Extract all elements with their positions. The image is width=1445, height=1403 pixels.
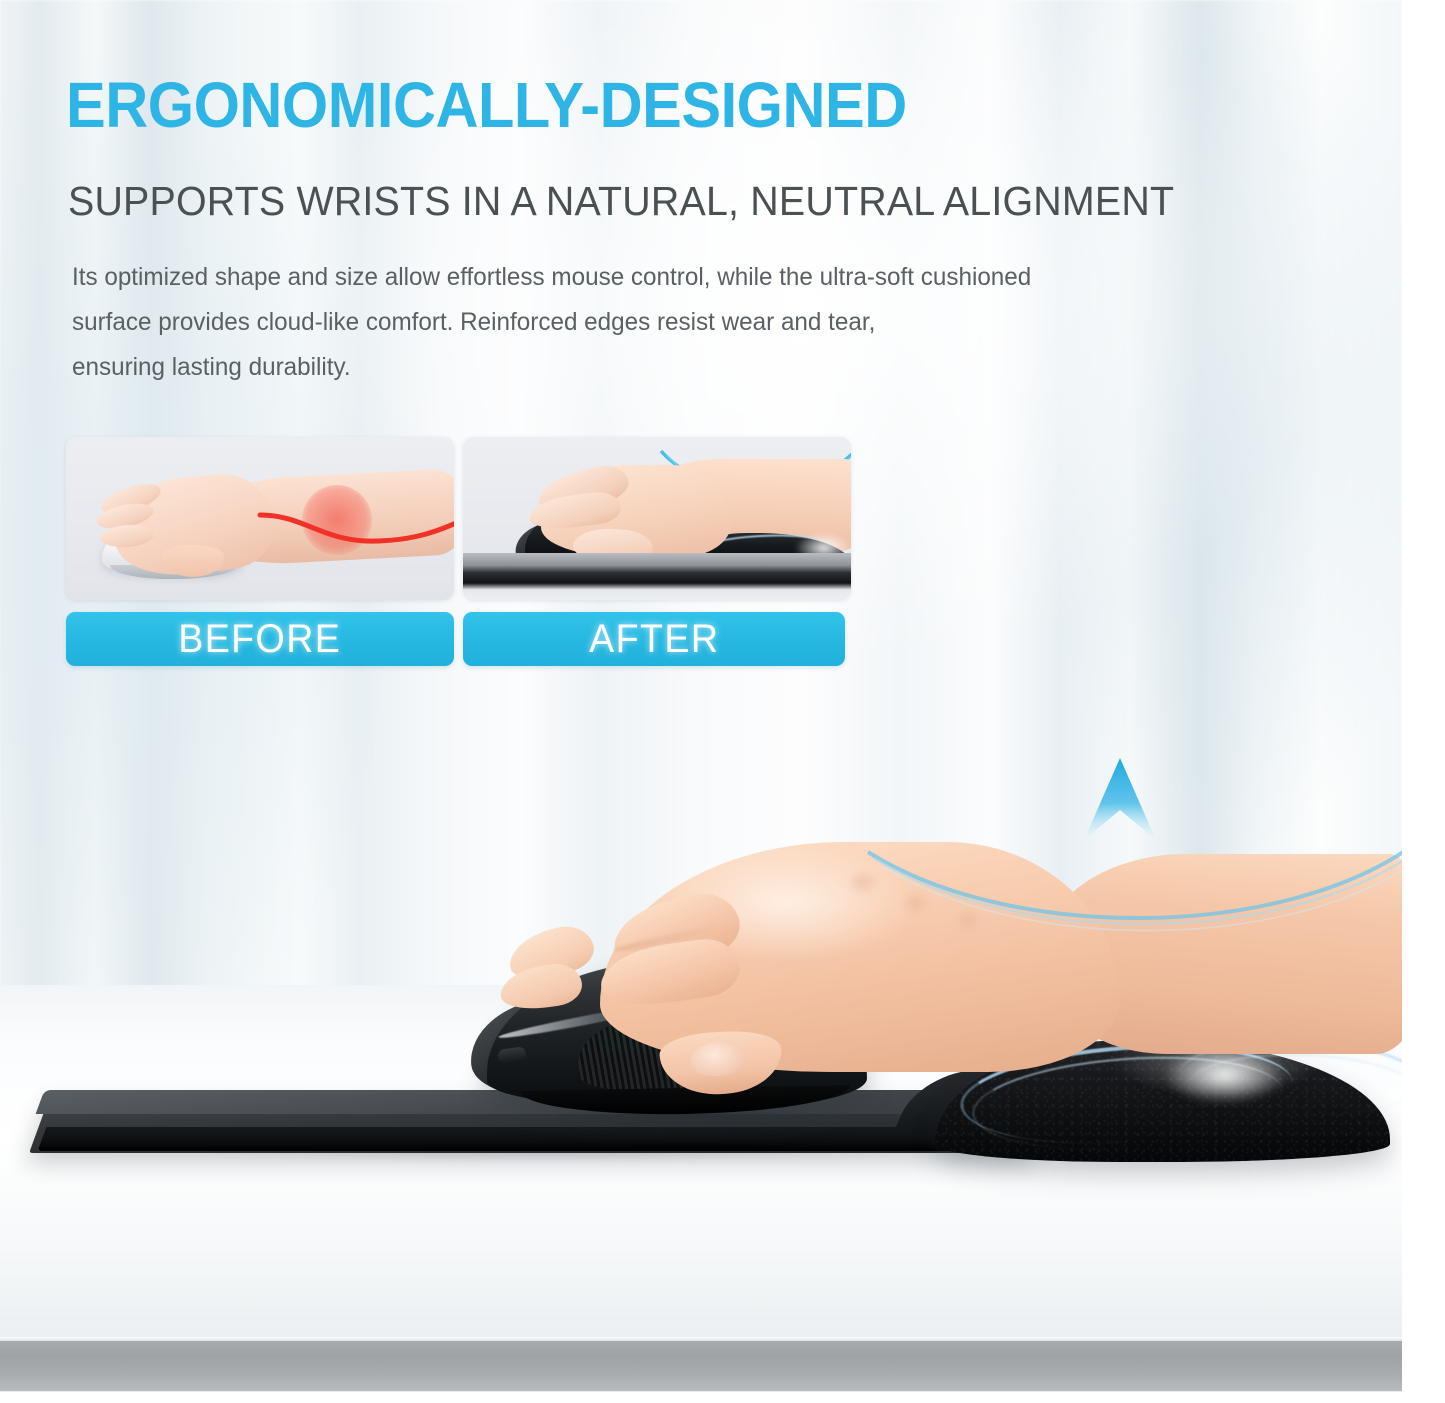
after-thumbnail: [463, 437, 851, 600]
description-line-1: Its optimized shape and size allow effor…: [72, 255, 1217, 300]
before-thumbnail: [66, 437, 454, 600]
before-badge: BEFORE: [66, 612, 454, 666]
description-line-2: surface provides cloud-like comfort. Rei…: [72, 300, 1217, 345]
desk-front-edge: [0, 1341, 1402, 1391]
after-desk-surface: [463, 553, 851, 600]
page-subtitle: SUPPORTS WRISTS IN A NATURAL, NEUTRAL AL…: [68, 178, 1354, 225]
after-badge: AFTER: [463, 612, 845, 666]
wrist-strain-line-icon: [258, 509, 454, 551]
product-feature-image: ERGONOMICALLY-DESIGNED SUPPORTS WRISTS I…: [0, 0, 1445, 1403]
description-text: Its optimized shape and size allow effor…: [72, 255, 1217, 390]
description-line-3: ensuring lasting durability.: [72, 345, 1217, 390]
chevron-up-icon: [1060, 748, 1180, 868]
mouse-pad-shadow: [52, 1150, 1032, 1170]
before-badge-label: BEFORE: [178, 617, 341, 662]
after-badge-label: AFTER: [589, 617, 719, 662]
mouse-pad-edge: [38, 1127, 1045, 1151]
page-title: ERGONOMICALLY-DESIGNED: [66, 72, 1294, 139]
